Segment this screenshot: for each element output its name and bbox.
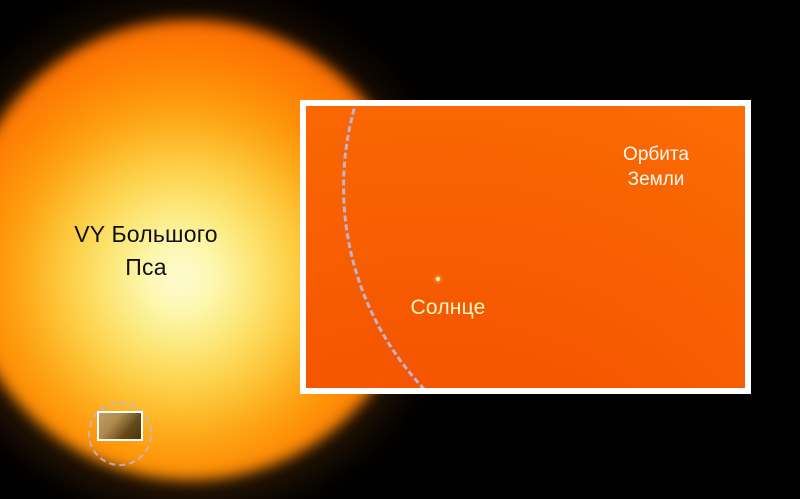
zoom-source-region: [84, 398, 160, 470]
magnified-inset-panel: Солнце Орбита Земли: [300, 100, 751, 394]
sun-dot: [436, 277, 440, 281]
zoom-source-rectangle: [97, 411, 143, 441]
star-name-label: VY Большого Пса: [36, 218, 256, 283]
earth-orbit-label: Орбита Земли: [586, 142, 726, 193]
sun-label: Солнце: [368, 296, 528, 320]
size-comparison-image: VY Большого Пса Солнце Орбита Земли: [0, 0, 800, 499]
